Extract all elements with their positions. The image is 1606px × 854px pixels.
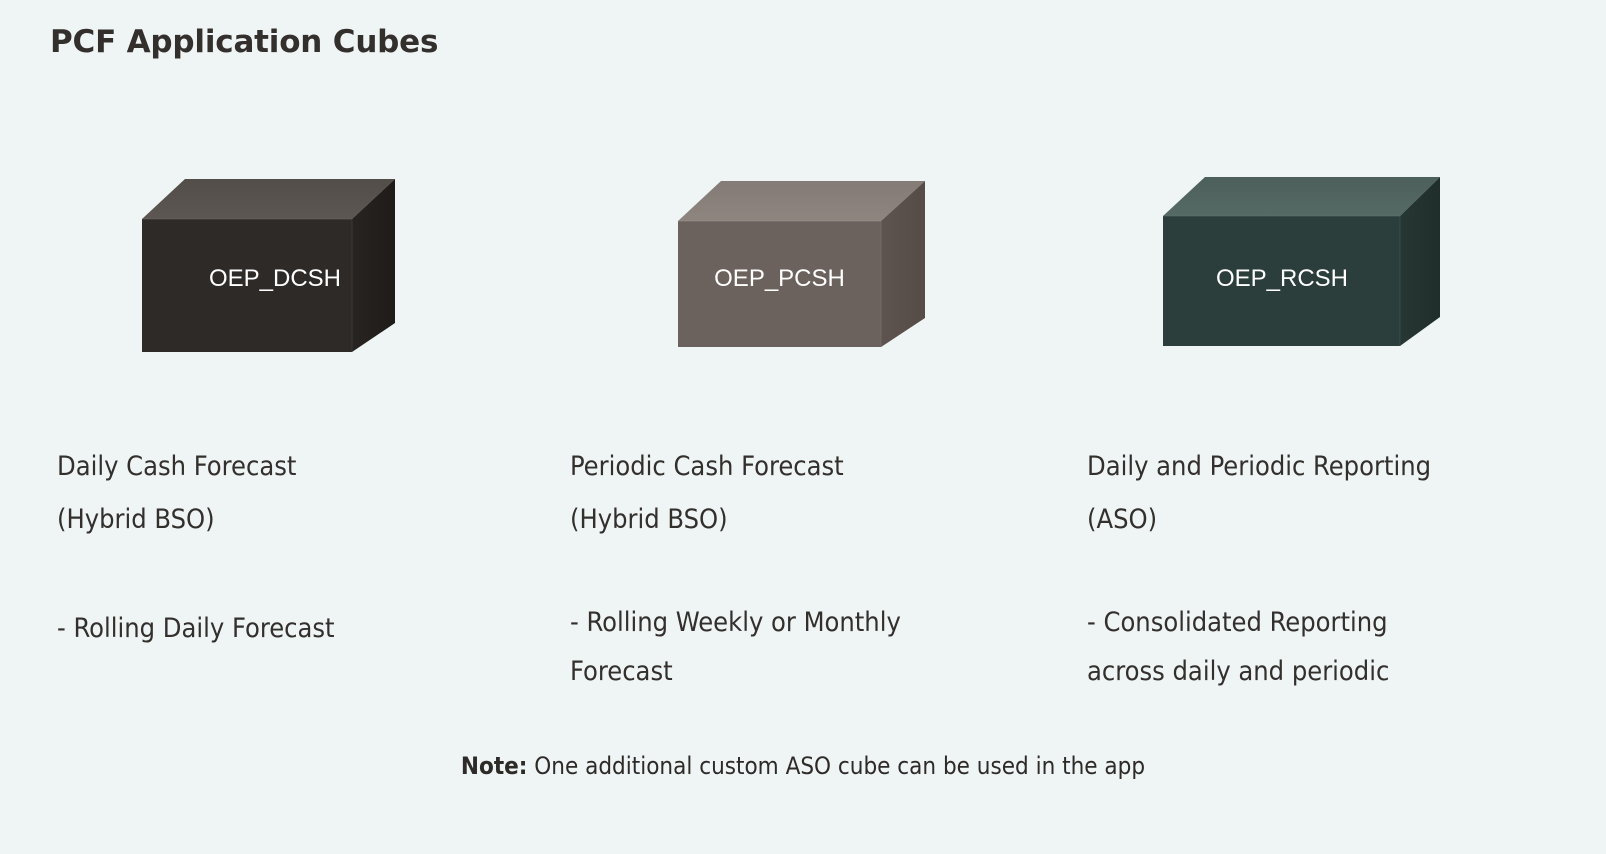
footer-note: Note: One additional custom ASO cube can… [0,752,1606,780]
footer-note-label: Note: [461,752,528,780]
cube-pcsh-shape [662,165,962,365]
col-3-heading-line-2: (ASO) [1087,493,1547,546]
cube-top-face [142,179,395,219]
cube-oep-pcsh[interactable]: OEP_PCSH [662,165,962,365]
col-2-heading-line-2: (Hybrid BSO) [570,493,1020,546]
description-columns: Daily Cash Forecast (Hybrid BSO) - Rolli… [0,440,1606,710]
slide-canvas: PCF Application Cubes [0,0,1606,854]
cube-front-face [1163,216,1400,346]
cube-rcsh-shape [1163,165,1463,365]
col-1-heading-line-2: (Hybrid BSO) [57,493,527,546]
col-2-bullet-line-1: - Rolling Weekly or Monthly [570,598,1020,647]
col-2-bullet-line-2: Forecast [570,647,1020,696]
col-2-heading-line-1: Periodic Cash Forecast [570,440,1020,493]
cube-oep-rcsh[interactable]: OEP_RCSH [1163,165,1463,365]
cube-oep-dcsh[interactable]: OEP_DCSH [142,165,442,365]
cube-row: OEP_DCSH [0,165,1606,365]
cube-front-face [678,221,881,347]
col-3-heading-line-1: Daily and Periodic Reporting [1087,440,1547,493]
column-periodic-cash-forecast: Periodic Cash Forecast (Hybrid BSO) - Ro… [570,440,1020,696]
col-1-bullet-line-1: - Rolling Daily Forecast [57,604,527,653]
page-title: PCF Application Cubes [50,24,438,60]
col-3-bullet-line-2: across daily and periodic [1087,647,1547,696]
cube-dcsh-shape [142,165,442,365]
column-daily-periodic-reporting: Daily and Periodic Reporting (ASO) - Con… [1087,440,1547,696]
cube-front-face [142,219,352,352]
cube-top-face [1163,177,1440,216]
footer-note-text: One additional custom ASO cube can be us… [527,752,1145,780]
col-3-bullet-line-1: - Consolidated Reporting [1087,598,1547,647]
col-1-heading-line-1: Daily Cash Forecast [57,440,527,493]
column-daily-cash-forecast: Daily Cash Forecast (Hybrid BSO) - Rolli… [57,440,527,653]
